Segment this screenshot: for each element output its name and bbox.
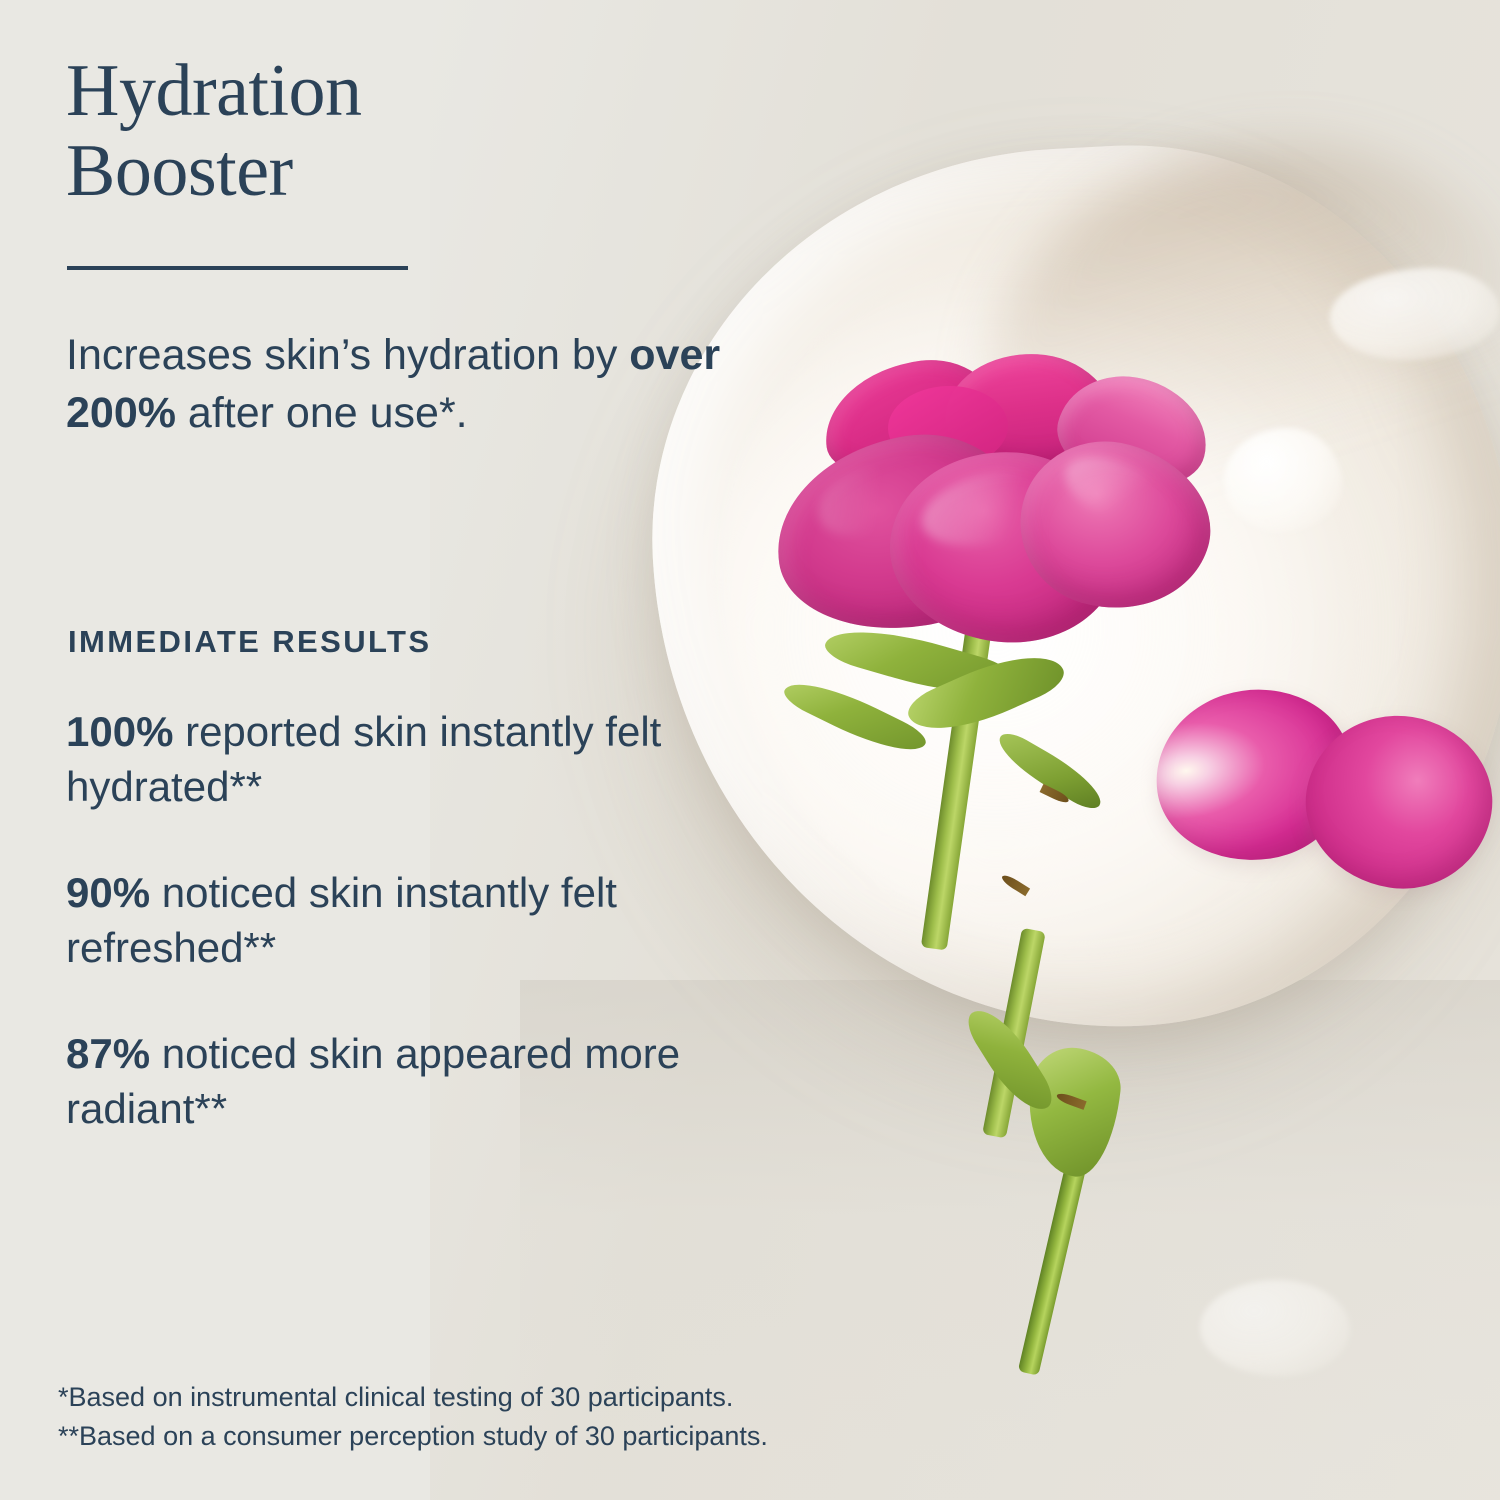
section-label-immediate-results: IMMEDIATE RESULTS [68, 624, 431, 660]
title-divider [67, 266, 408, 270]
title-line-2: Booster [66, 130, 293, 212]
result-item: 100% reported skin instantly felt hydrat… [66, 704, 766, 815]
result-item: 90% noticed skin instantly felt refreshe… [66, 865, 766, 976]
title-line-1: Hydration [66, 50, 362, 132]
footnote-single-asterisk: *Based on instrumental clinical testing … [58, 1378, 768, 1417]
footnote-double-asterisk: **Based on a consumer perception study o… [58, 1417, 768, 1456]
result-value: 100% [66, 708, 173, 755]
page-title: Hydration Booster [66, 52, 586, 212]
subheadline-tail: after one use*. [176, 389, 468, 437]
product-infographic: Hydration Booster Increases skin’s hydra… [0, 0, 1500, 1500]
result-claim: noticed skin appeared more radiant** [66, 1030, 680, 1132]
copy-block: Hydration Booster Increases skin’s hydra… [0, 0, 1500, 1500]
subheadline: Increases skin’s hydration by over 200% … [66, 326, 826, 443]
result-value: 87% [66, 1030, 150, 1077]
results-list: 100% reported skin instantly felt hydrat… [66, 704, 766, 1137]
result-value: 90% [66, 869, 150, 916]
result-item: 87% noticed skin appeared more radiant** [66, 1026, 766, 1137]
footnotes: *Based on instrumental clinical testing … [58, 1378, 768, 1457]
subheadline-lead: Increases skin’s hydration by [66, 331, 629, 379]
